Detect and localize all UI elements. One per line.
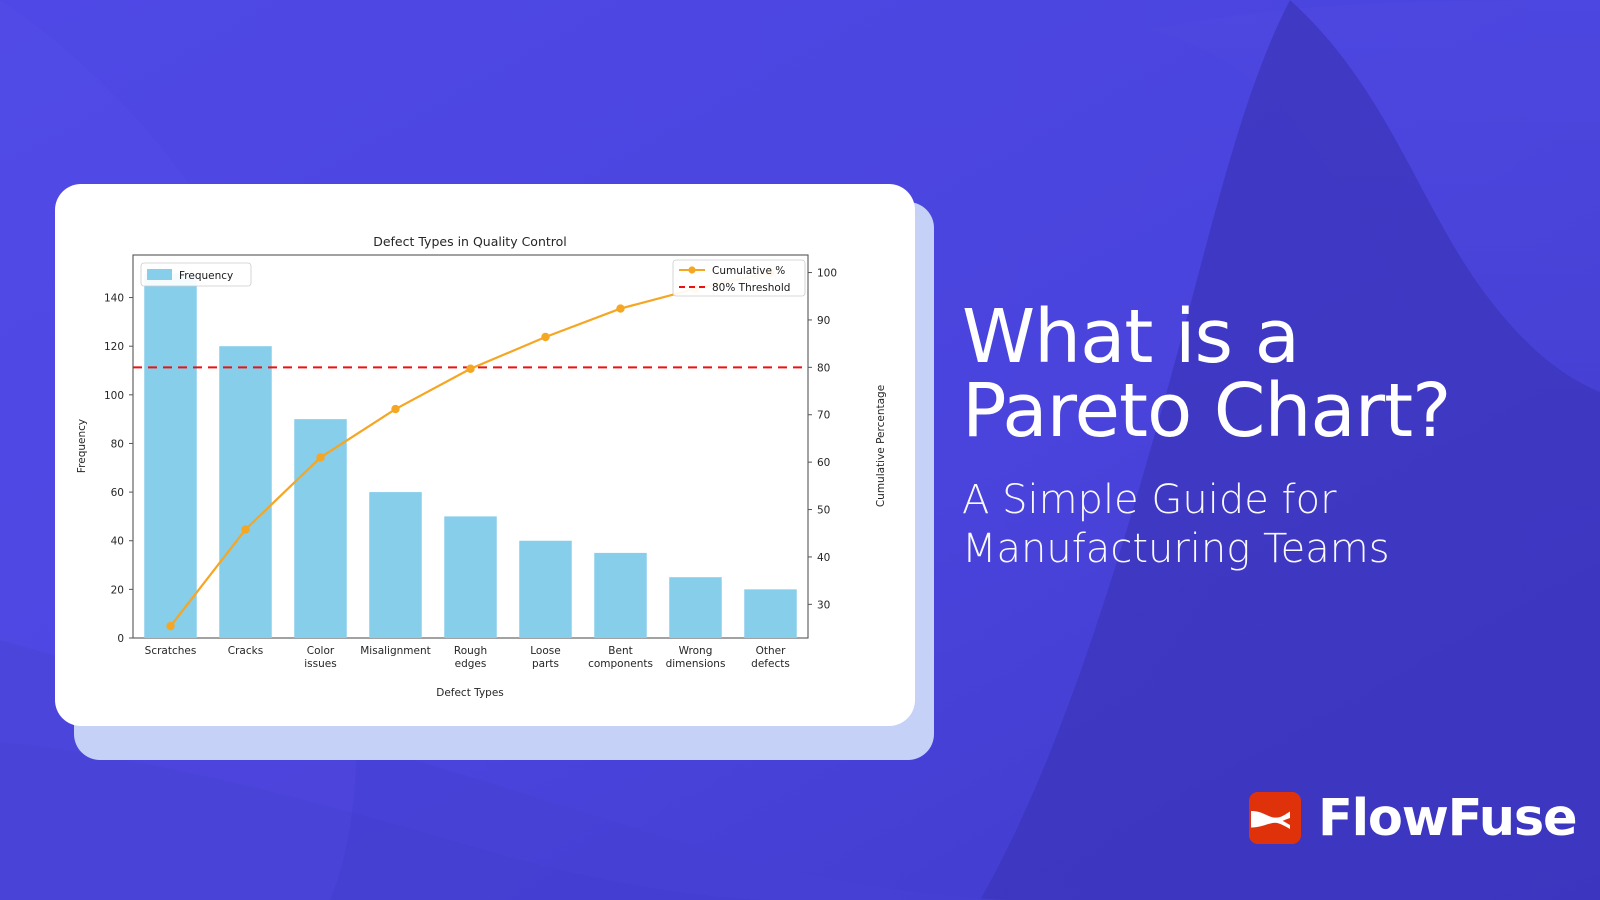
bar — [219, 346, 272, 638]
chart-title: Defect Types in Quality Control — [373, 234, 567, 249]
y-tick-label: 80 — [111, 438, 124, 450]
y2-tick-label: 90 — [817, 315, 830, 327]
x-tick-label: Scratches — [145, 645, 197, 657]
pareto-chart-svg: 020406080100120140 30405060708090100 Scr… — [55, 184, 915, 726]
x-axis-ticks: ScratchesCracksColorissuesMisalignmentRo… — [145, 645, 790, 670]
flowfuse-logo[interactable]: FlowFuse — [1249, 792, 1576, 844]
bar — [444, 516, 497, 638]
y-tick-label: 120 — [104, 341, 124, 353]
x-tick-label: Wrongdimensions — [666, 645, 726, 670]
legend-frequency-swatch — [147, 269, 172, 280]
flowfuse-wordmark: FlowFuse — [1318, 793, 1576, 844]
y-tick-label: 0 — [117, 633, 124, 645]
chart-card: 020406080100120140 30405060708090100 Scr… — [55, 184, 915, 726]
x-tick-label: Misalignment — [360, 645, 431, 657]
x-tick-label: Colorissues — [304, 645, 336, 670]
bar — [294, 419, 347, 638]
x-tick-label: Otherdefects — [751, 645, 790, 670]
legend-cumulative-marker — [688, 266, 695, 273]
legend-cumulative: Cumulative % 80% Threshold — [673, 260, 805, 296]
bar — [369, 492, 422, 638]
cumulative-point — [166, 622, 174, 630]
legend-threshold-label: 80% Threshold — [712, 282, 790, 294]
y-tick-label: 140 — [104, 293, 124, 305]
y-tick-label: 20 — [111, 584, 124, 596]
bar — [519, 541, 572, 638]
x-tick-label: Looseparts — [530, 645, 560, 670]
y2-tick-label: 60 — [817, 457, 830, 469]
y2-axis-ticks: 30405060708090100 — [808, 268, 837, 612]
y2-tick-label: 40 — [817, 552, 830, 564]
page-subtitle: A Simple Guide for Manufacturing Teams — [962, 476, 1562, 574]
y2-tick-label: 50 — [817, 505, 830, 517]
cumulative-point — [466, 365, 474, 373]
bar — [669, 577, 722, 638]
bar — [594, 553, 647, 638]
legend-frequency: Frequency — [141, 263, 251, 286]
y2-tick-label: 100 — [817, 268, 837, 280]
legend-cumulative-label: Cumulative % — [712, 265, 785, 277]
x-tick-label: Cracks — [228, 645, 263, 657]
cumulative-point — [241, 525, 249, 533]
x-tick-label: Roughedges — [454, 645, 487, 670]
y-tick-label: 60 — [111, 487, 124, 499]
bar — [144, 273, 197, 638]
legend-frequency-label: Frequency — [179, 270, 233, 282]
flowfuse-mark-icon — [1249, 792, 1301, 844]
y-tick-label: 100 — [104, 390, 124, 402]
pareto-chart: 020406080100120140 30405060708090100 Scr… — [55, 184, 915, 726]
cumulative-point — [391, 405, 399, 413]
y-axis-label: Frequency — [76, 419, 88, 473]
cumulative-point — [616, 304, 624, 312]
y-axis-ticks: 020406080100120140 — [104, 293, 133, 645]
y2-tick-label: 80 — [817, 362, 830, 374]
x-axis-label: Defect Types — [436, 687, 504, 699]
y2-tick-label: 70 — [817, 410, 830, 422]
cumulative-point — [541, 333, 549, 341]
y2-tick-label: 30 — [817, 599, 830, 611]
y2-axis-label: Cumulative Percentage — [875, 385, 887, 507]
x-tick-label: Bentcomponents — [588, 645, 653, 670]
hero-copy: What is a Pareto Chart? A Simple Guide f… — [962, 300, 1562, 574]
y-tick-label: 40 — [111, 536, 124, 548]
page-title: What is a Pareto Chart? — [962, 300, 1562, 448]
bar — [744, 589, 797, 638]
cumulative-point — [316, 453, 324, 461]
